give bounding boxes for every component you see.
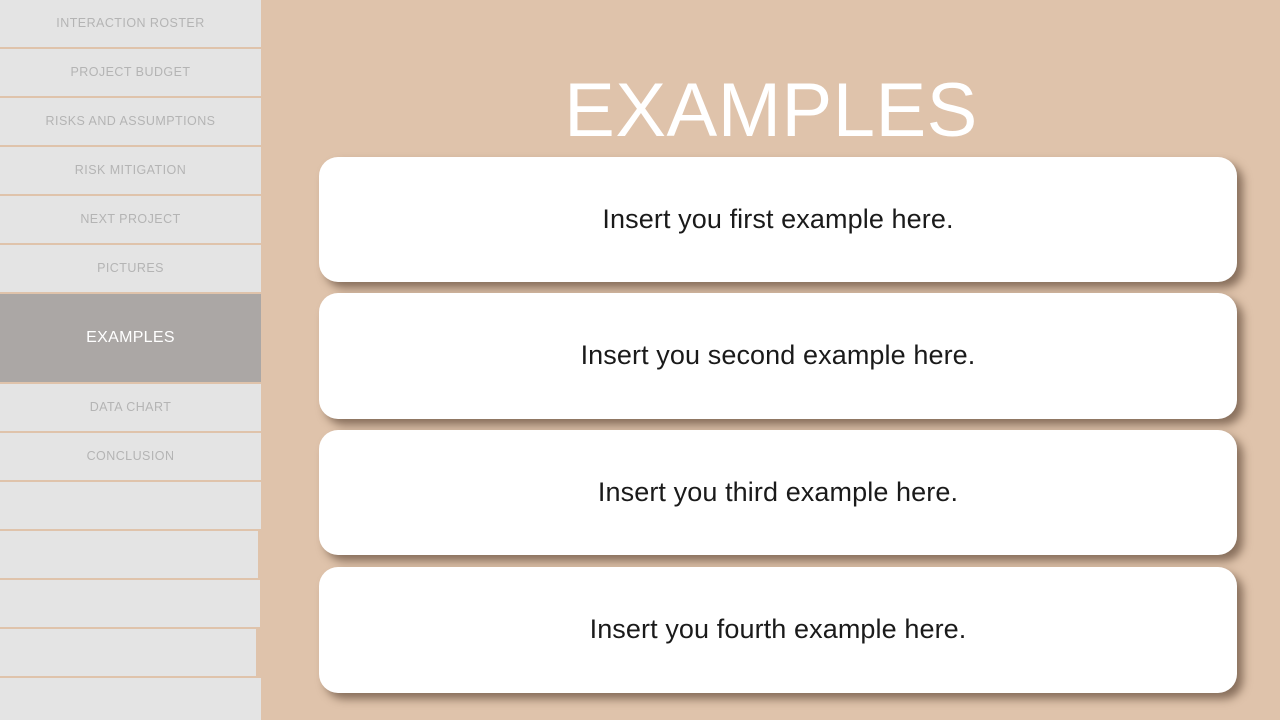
example-card[interactable]: Insert you second example here. <box>319 293 1237 419</box>
sidebar-item-empty-9[interactable] <box>0 482 261 529</box>
example-card-text: Insert you fourth example here. <box>590 613 967 647</box>
sidebar-item-label: RISKS AND ASSUMPTIONS <box>46 115 216 129</box>
example-card-text: Insert you first example here. <box>602 203 953 237</box>
sidebar-item-label: RISK MITIGATION <box>75 164 186 178</box>
sidebar-item-empty-12[interactable] <box>0 629 256 676</box>
sidebar-item-label: NEXT PROJECT <box>80 213 180 227</box>
example-card[interactable]: Insert you first example here. <box>319 157 1237 282</box>
sidebar-item-conclusion[interactable]: CONCLUSION <box>0 433 261 480</box>
sidebar-item-empty-11[interactable] <box>0 580 260 627</box>
sidebar-item-data-chart[interactable]: DATA CHART <box>0 384 261 431</box>
example-card-list: Insert you first example here.Insert you… <box>262 0 1280 720</box>
sidebar-item-label: EXAMPLES <box>86 329 175 347</box>
presentation-slide: INTERACTION ROSTERPROJECT BUDGETRISKS AN… <box>0 0 1280 720</box>
example-card-text: Insert you second example here. <box>581 339 976 373</box>
sidebar-item-label: PROJECT BUDGET <box>71 66 191 80</box>
sidebar-item-pictures[interactable]: PICTURES <box>0 245 261 292</box>
sidebar-item-examples[interactable]: EXAMPLES <box>0 294 261 382</box>
sidebar-item-empty-13[interactable] <box>0 678 261 720</box>
sidebar-item-label: PICTURES <box>97 262 164 276</box>
example-card[interactable]: Insert you third example here. <box>319 430 1237 555</box>
sidebar-item-risk-mitigation[interactable]: RISK MITIGATION <box>0 147 261 194</box>
sidebar-item-project-budget[interactable]: PROJECT BUDGET <box>0 49 261 96</box>
sidebar-item-empty-10[interactable] <box>0 531 258 578</box>
sidebar-item-label: INTERACTION ROSTER <box>56 17 204 31</box>
example-card-text: Insert you third example here. <box>598 476 958 510</box>
sidebar-item-risks-and-assumptions[interactable]: RISKS AND ASSUMPTIONS <box>0 98 261 145</box>
slide-navigation-sidebar: INTERACTION ROSTERPROJECT BUDGETRISKS AN… <box>0 0 262 720</box>
slide-content-area: EXAMPLES Insert you first example here.I… <box>262 0 1280 720</box>
sidebar-item-label: DATA CHART <box>90 401 172 415</box>
sidebar-item-next-project[interactable]: NEXT PROJECT <box>0 196 261 243</box>
sidebar-item-interaction-roster[interactable]: INTERACTION ROSTER <box>0 0 261 47</box>
example-card[interactable]: Insert you fourth example here. <box>319 567 1237 693</box>
sidebar-item-label: CONCLUSION <box>87 450 175 464</box>
